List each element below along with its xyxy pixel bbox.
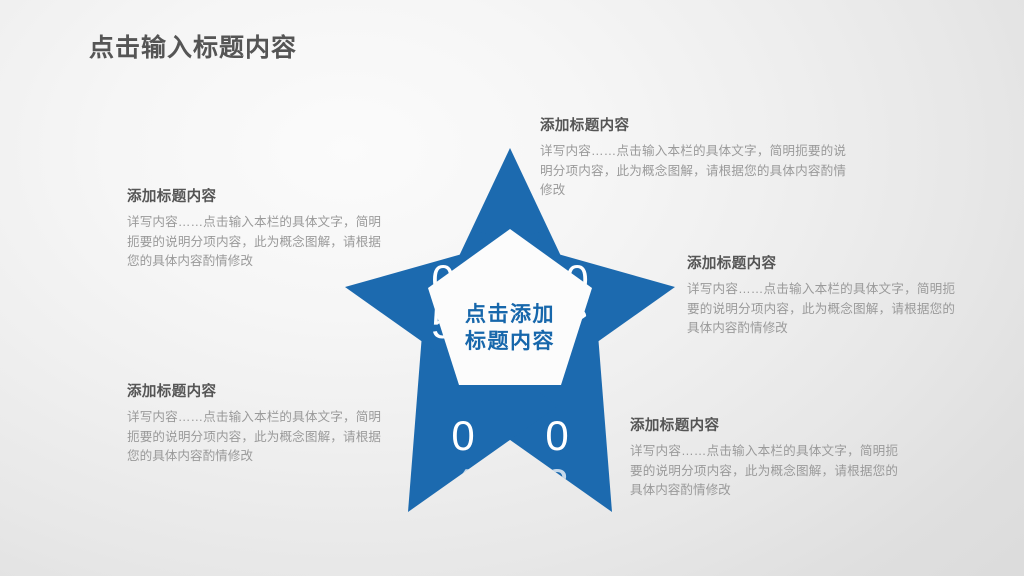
callout-title: 添加标题内容 — [630, 414, 900, 435]
callout-title: 添加标题内容 — [127, 185, 385, 206]
callout-top-right[interactable]: 添加标题内容 详写内容……点击输入本栏的具体文字，简明扼要的说明分项内容，此为概… — [540, 114, 850, 201]
callout-title: 添加标题内容 — [687, 252, 957, 273]
callout-body: 详写内容……点击输入本栏的具体文字，简明扼要的说明分项内容，此为概念图解，请根据… — [127, 408, 381, 467]
star-center-pentagon[interactable] — [428, 229, 592, 385]
slide-canvas: 点击输入标题内容 — [0, 0, 1024, 576]
star-point-bottom-left-number-a: 0 — [451, 412, 474, 459]
callout-middle-right[interactable]: 添加标题内容 详写内容……点击输入本栏的具体文字，简明扼要的说明分项内容，此为概… — [687, 252, 957, 339]
star-point-bottom-right-number-a: 0 — [545, 412, 568, 459]
star-point-bottom-left-number-b: 4 — [451, 460, 474, 507]
star-diagram[interactable]: 0 1 0 2 0 3 — [345, 148, 675, 520]
star-point-bottom-right-number-b: 3 — [545, 460, 568, 507]
callout-middle-left[interactable]: 添加标题内容 详写内容……点击输入本栏的具体文字，简明扼要的说明分项内容，此为概… — [127, 185, 385, 272]
callout-body: 详写内容……点击输入本栏的具体文字，简明扼要的说明分项内容，此为概念图解，请根据… — [687, 280, 955, 339]
callout-title: 添加标题内容 — [127, 380, 385, 401]
callout-body: 详写内容……点击输入本栏的具体文字，简明扼要的说明分项内容，此为概念图解，请根据… — [540, 142, 846, 201]
star-svg: 0 1 0 2 0 3 — [345, 148, 675, 520]
callout-body: 详写内容……点击输入本栏的具体文字，简明扼要的说明分项内容，此为概念图解，请根据… — [127, 213, 381, 272]
callout-bottom-left[interactable]: 添加标题内容 详写内容……点击输入本栏的具体文字，简明扼要的说明分项内容，此为概… — [127, 380, 385, 467]
callout-body: 详写内容……点击输入本栏的具体文字，简明扼要的说明分项内容，此为概念图解，请根据… — [630, 442, 898, 501]
callout-title: 添加标题内容 — [540, 114, 850, 135]
callout-bottom-right[interactable]: 添加标题内容 详写内容……点击输入本栏的具体文字，简明扼要的说明分项内容，此为概… — [630, 414, 900, 501]
page-title: 点击输入标题内容 — [89, 28, 297, 64]
